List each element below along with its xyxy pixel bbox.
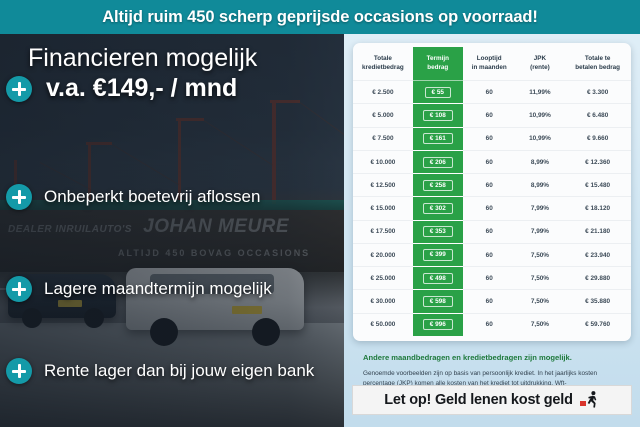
cell-totaal: € 18.120	[564, 197, 631, 220]
table-row: € 2.500€ 556011,99%€ 3.300	[353, 81, 631, 104]
th-line-2: betalen bedrag	[575, 64, 620, 71]
cell-looptijd: 60	[463, 104, 516, 127]
cell-termijn: € 302	[413, 197, 463, 220]
cell-termijn: € 598	[413, 290, 463, 313]
cell-jkp: 7,50%	[516, 243, 565, 266]
table-row: € 15.000€ 302607,99%€ 18.120	[353, 197, 631, 220]
cell-looptijd: 60	[463, 81, 516, 104]
th-line-1: JPK	[534, 55, 546, 62]
cell-jkp: 7,99%	[516, 220, 565, 243]
cell-jkp: 7,50%	[516, 267, 565, 290]
cell-krediet: € 12.500	[353, 174, 413, 197]
termijn-pill: € 206	[423, 157, 453, 168]
cell-termijn: € 353	[413, 220, 463, 243]
cell-krediet: € 25.000	[353, 267, 413, 290]
th-line-1: Termijn	[427, 55, 449, 62]
termijn-pill: € 108	[423, 110, 453, 121]
th-line-1: Totale	[374, 55, 392, 62]
benefit-label-0: Onbeperkt boetevrij aflossen	[44, 187, 260, 207]
table-row: € 7.500€ 1616010,99%€ 9.660	[353, 127, 631, 150]
cell-jkp: 10,99%	[516, 127, 565, 150]
table-row: € 17.500€ 353607,99%€ 21.180	[353, 220, 631, 243]
headline-line-2: v.a. €149,- / mnd	[28, 74, 340, 103]
benefit-item-2: Rente lager dan bij jouw eigen bank	[6, 358, 314, 384]
cell-jkp: 10,99%	[516, 104, 565, 127]
th-line-2: kredietbedrag	[362, 64, 404, 71]
th-termijn-bedrag: Termijn bedrag	[413, 47, 463, 81]
th-totale-kredietbedrag: Totale kredietbedrag	[353, 47, 413, 81]
th-line-1: Totale te	[585, 55, 610, 62]
cell-krediet: € 50.000	[353, 313, 413, 336]
termijn-pill: € 353	[423, 226, 453, 237]
credit-warning-banner: Let op! Geld lenen kost geld	[352, 385, 632, 415]
benefit-item-1: Lagere maandtermijn mogelijk	[6, 276, 272, 302]
benefit-label-1: Lagere maandtermijn mogelijk	[44, 279, 272, 299]
cell-krediet: € 15.000	[353, 197, 413, 220]
table-row: € 30.000€ 598607,50%€ 35.880	[353, 290, 631, 313]
cell-jkp: 8,99%	[516, 174, 565, 197]
cell-termijn: € 108	[413, 104, 463, 127]
table-row: € 50.000€ 996607,50%€ 59.760	[353, 313, 631, 336]
termijn-pill: € 55	[425, 87, 451, 98]
table-header-row: Totale kredietbedrag Termijn bedrag Loop…	[353, 47, 631, 81]
cell-looptijd: 60	[463, 313, 516, 336]
top-promo-text: Altijd ruim 450 scherp geprijsde occasio…	[102, 8, 538, 27]
th-line-2: (rente)	[530, 64, 550, 71]
table-row: € 25.000€ 498607,50%€ 29.880	[353, 267, 631, 290]
cell-krediet: € 2.500	[353, 81, 413, 104]
cell-krediet: € 7.500	[353, 127, 413, 150]
cell-krediet: € 17.500	[353, 220, 413, 243]
cell-krediet: € 10.000	[353, 150, 413, 173]
cell-totaal: € 15.480	[564, 174, 631, 197]
plus-circle-icon	[6, 358, 32, 384]
headline-line-1: Financieren mogelijk	[28, 44, 340, 72]
plus-circle-icon	[6, 184, 32, 210]
termijn-pill: € 598	[423, 296, 453, 307]
cell-looptijd: 60	[463, 267, 516, 290]
table-row: € 12.500€ 258608,99%€ 15.480	[353, 174, 631, 197]
termijn-pill: € 996	[423, 319, 453, 330]
table-row: € 10.000€ 206608,99%€ 12.360	[353, 150, 631, 173]
cell-termijn: € 399	[413, 243, 463, 266]
cell-jkp: 7,50%	[516, 313, 565, 336]
left-content-column: Financieren mogelijk v.a. €149,- / mnd O…	[0, 34, 344, 427]
th-line-2: bedrag	[427, 64, 448, 71]
cell-krediet: € 5.000	[353, 104, 413, 127]
th-line-2: in maanden	[472, 64, 507, 71]
cell-totaal: € 3.300	[564, 81, 631, 104]
termijn-pill: € 302	[423, 203, 453, 214]
th-looptijd: Looptijd in maanden	[463, 47, 516, 81]
cell-jkp: 11,99%	[516, 81, 565, 104]
running-man-icon	[580, 390, 600, 410]
credit-warning-text: Let op! Geld lenen kost geld	[384, 392, 573, 408]
benefit-item-0: Onbeperkt boetevrij aflossen	[6, 184, 260, 210]
cell-looptijd: 60	[463, 243, 516, 266]
termijn-pill: € 258	[423, 180, 453, 191]
disclaimer-title: Andere maandbedragen en kredietbedragen …	[363, 353, 621, 363]
rate-table-body: € 2.500€ 556011,99%€ 3.300€ 5.000€ 10860…	[353, 81, 631, 336]
cell-totaal: € 21.180	[564, 220, 631, 243]
cell-totaal: € 23.940	[564, 243, 631, 266]
cell-jkp: 7,50%	[516, 290, 565, 313]
cell-termijn: € 996	[413, 313, 463, 336]
cell-termijn: € 206	[413, 150, 463, 173]
benefit-label-2: Rente lager dan bij jouw eigen bank	[44, 361, 314, 381]
cell-totaal: € 29.880	[564, 267, 631, 290]
credit-rate-table: Totale kredietbedrag Termijn bedrag Loop…	[353, 47, 631, 336]
plus-circle-icon	[6, 276, 32, 302]
cell-termijn: € 498	[413, 267, 463, 290]
cell-looptijd: 60	[463, 150, 516, 173]
cell-jkp: 8,99%	[516, 150, 565, 173]
cell-totaal: € 12.360	[564, 150, 631, 173]
th-line-1: Looptijd	[477, 55, 502, 62]
top-promo-bar: Altijd ruim 450 scherp geprijsde occasio…	[0, 0, 640, 34]
rate-table-card: Totale kredietbedrag Termijn bedrag Loop…	[353, 43, 631, 341]
cell-looptijd: 60	[463, 220, 516, 243]
right-info-panel: Totale kredietbedrag Termijn bedrag Loop…	[344, 34, 640, 427]
cell-totaal: € 9.660	[564, 127, 631, 150]
cell-jkp: 7,99%	[516, 197, 565, 220]
termijn-pill: € 399	[423, 249, 453, 260]
cell-looptijd: 60	[463, 127, 516, 150]
cell-termijn: € 55	[413, 81, 463, 104]
headline-block: Financieren mogelijk v.a. €149,- / mnd	[28, 44, 340, 103]
cell-looptijd: 60	[463, 197, 516, 220]
cell-totaal: € 59.760	[564, 313, 631, 336]
th-jkp: JPK (rente)	[516, 47, 565, 81]
cell-termijn: € 161	[413, 127, 463, 150]
financing-promo-banner: DEALER INRUILAUTO'S JOHAN MEURE ALTIJD 4…	[0, 0, 640, 427]
cell-looptijd: 60	[463, 290, 516, 313]
cell-looptijd: 60	[463, 174, 516, 197]
cell-krediet: € 20.000	[353, 243, 413, 266]
th-totale-te-betalen: Totale te betalen bedrag	[564, 47, 631, 81]
cell-totaal: € 35.880	[564, 290, 631, 313]
termijn-pill: € 161	[423, 133, 453, 144]
cell-termijn: € 258	[413, 174, 463, 197]
cell-krediet: € 30.000	[353, 290, 413, 313]
termijn-pill: € 498	[423, 273, 453, 284]
table-row: € 20.000€ 399607,50%€ 23.940	[353, 243, 631, 266]
cell-totaal: € 6.480	[564, 104, 631, 127]
table-row: € 5.000€ 1086010,99%€ 6.480	[353, 104, 631, 127]
